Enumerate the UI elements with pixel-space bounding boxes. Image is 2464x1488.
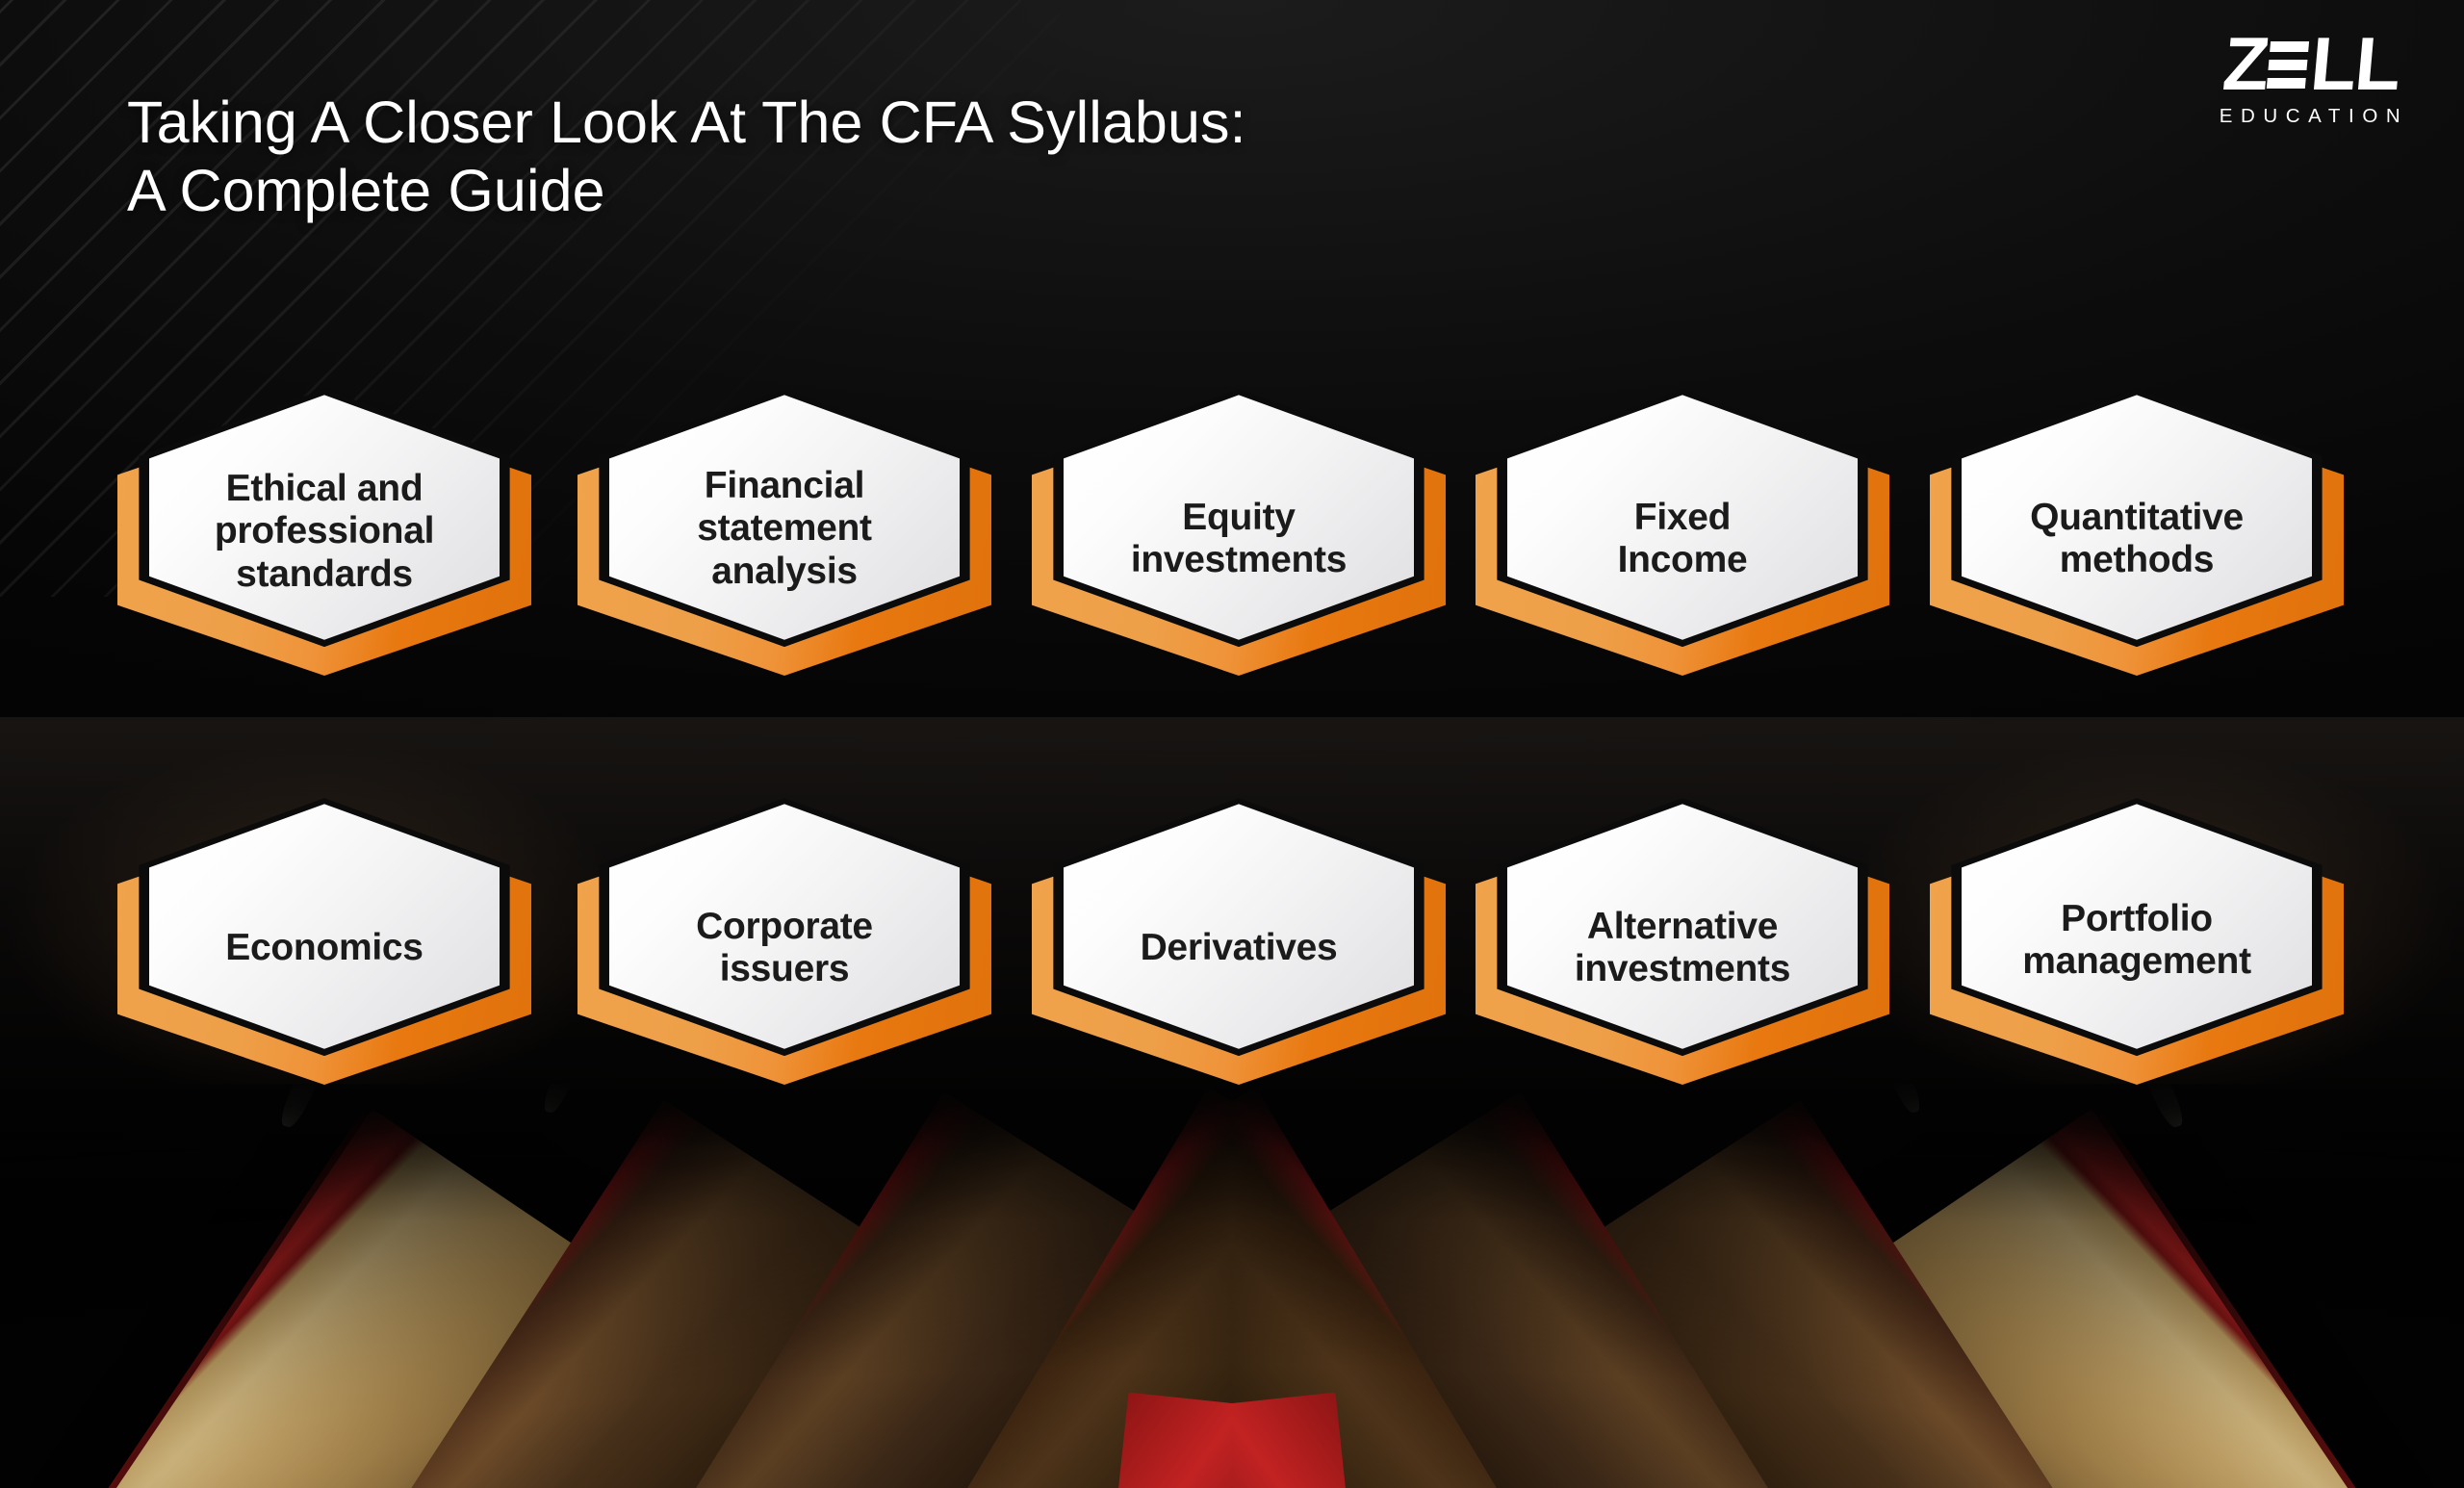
syllabus-badge[interactable]: Quantitative methods bbox=[1930, 404, 2344, 676]
badge-label: Portfolio management bbox=[1967, 898, 2307, 984]
badge-label: Equity investments bbox=[1069, 497, 1409, 582]
badge-label: Fixed Income bbox=[1513, 497, 1853, 582]
syllabus-badge[interactable]: Equity investments bbox=[1032, 404, 1446, 676]
syllabus-badge[interactable]: Financial statement analysis bbox=[577, 404, 991, 676]
logo-wordmark: Z L L bbox=[2191, 29, 2431, 99]
page-title: Taking A Closer Look At The CFA Syllabus… bbox=[127, 89, 1821, 225]
brand-logo[interactable]: Z L L EDUCATION bbox=[2191, 29, 2431, 128]
badge-label: Quantitative methods bbox=[1967, 497, 2307, 582]
badge-label: Financial statement analysis bbox=[615, 465, 955, 593]
logo-tagline: EDUCATION bbox=[2191, 105, 2431, 128]
syllabus-badge[interactable]: Fixed Income bbox=[1476, 404, 1889, 676]
badge-label: Ethical and professional standards bbox=[155, 468, 495, 596]
logo-letter-z: Z bbox=[2220, 29, 2270, 99]
syllabus-badge[interactable]: Economics bbox=[117, 813, 531, 1085]
e-bars-icon bbox=[2267, 38, 2310, 91]
badge-label: Economics bbox=[155, 927, 495, 969]
badge-label: Corporate issuers bbox=[615, 906, 955, 991]
syllabus-badge[interactable]: Portfolio management bbox=[1930, 813, 2344, 1085]
badge-label: Derivatives bbox=[1069, 927, 1409, 969]
logo-letter-l-second: L bbox=[2352, 29, 2402, 99]
slide-canvas: Taking A Closer Look At The CFA Syllabus… bbox=[0, 0, 2464, 1488]
logo-letter-l-first: L bbox=[2308, 29, 2358, 99]
syllabus-badge[interactable]: Ethical and professional standards bbox=[117, 404, 531, 676]
syllabus-badge[interactable]: Derivatives bbox=[1032, 813, 1446, 1085]
badge-label: Alternative investments bbox=[1513, 906, 1853, 991]
syllabus-badge[interactable]: Alternative investments bbox=[1476, 813, 1889, 1085]
syllabus-badge[interactable]: Corporate issuers bbox=[577, 813, 991, 1085]
